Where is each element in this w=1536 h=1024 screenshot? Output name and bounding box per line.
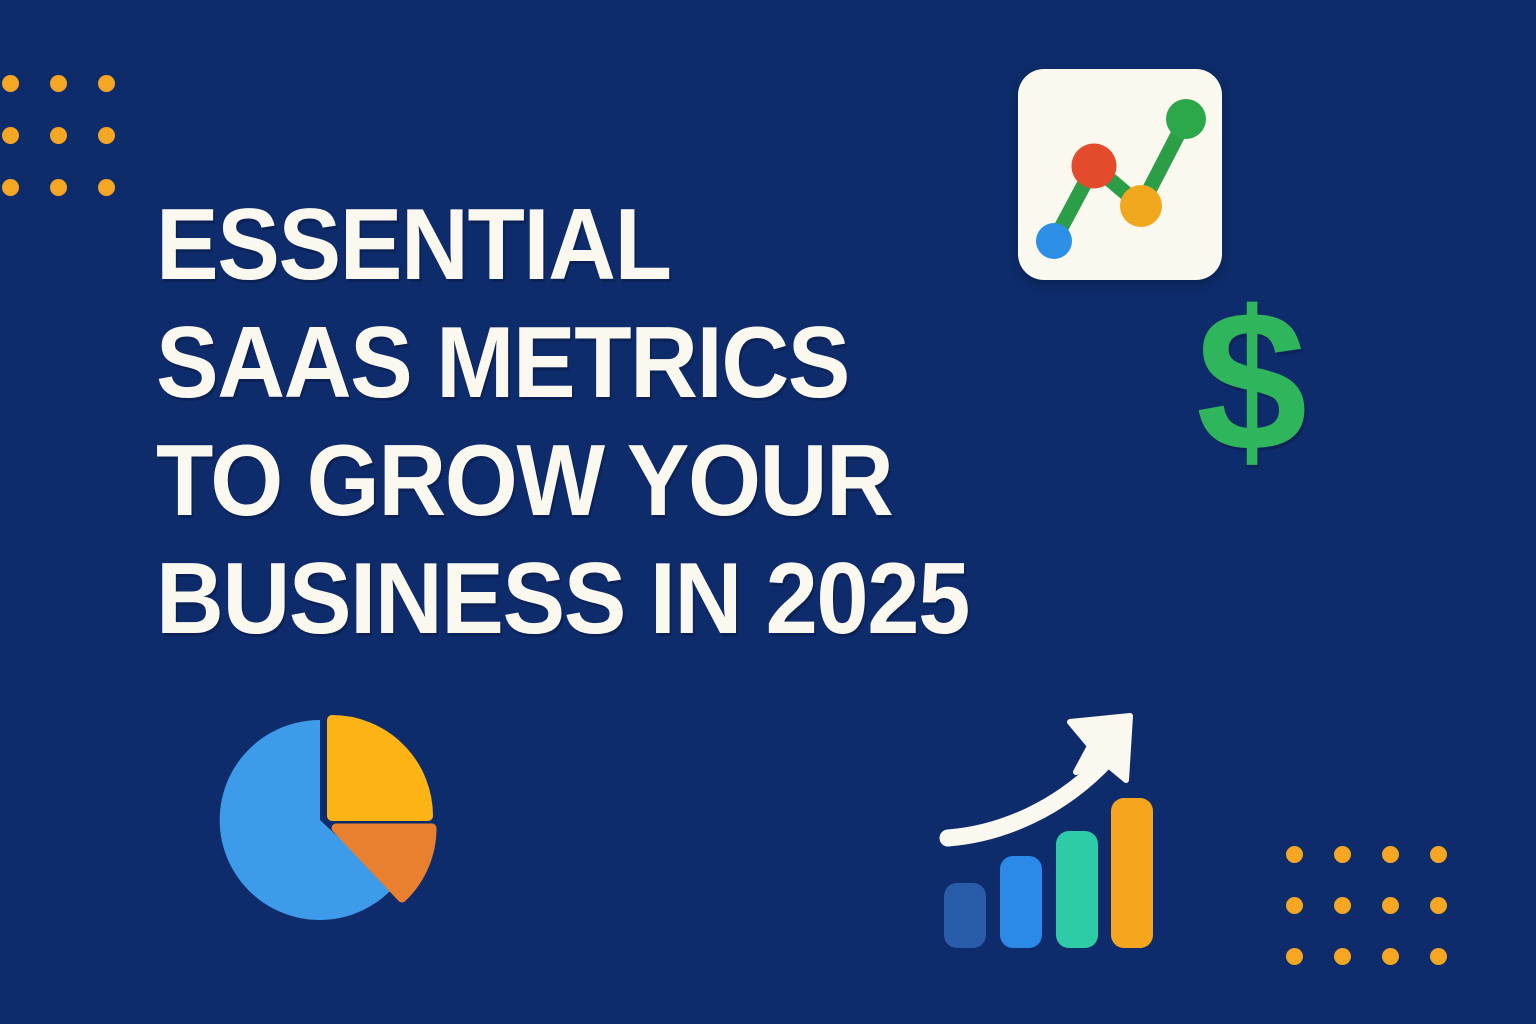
page-title: ESSENTIAL SAAS METRICS TO GROW YOUR BUSI… — [156, 186, 1156, 658]
decor-dot — [50, 127, 67, 144]
decor-dot — [1286, 846, 1303, 863]
bar-4 — [1111, 798, 1153, 948]
line-chart-point-green — [1166, 99, 1206, 139]
pie-chart-icon — [206, 698, 446, 938]
pie-slice-yellow — [332, 720, 428, 816]
bar-3 — [1056, 831, 1098, 948]
bar-2 — [1000, 856, 1042, 948]
line-chart-point-orange — [1120, 185, 1162, 227]
decor-dot — [2, 127, 19, 144]
headline-line-2: SAAS METRICS — [156, 304, 1086, 422]
headline-line-3: TO GROW YOUR — [156, 422, 1086, 540]
decor-dot — [98, 179, 115, 196]
dollar-sign-icon: $ — [1196, 292, 1296, 472]
bar-1 — [944, 883, 986, 948]
headline-line-4: BUSINESS IN 2025 — [156, 540, 1086, 658]
decor-dot — [98, 75, 115, 92]
decor-dot — [2, 75, 19, 92]
decor-dot — [50, 75, 67, 92]
decor-dot — [1382, 948, 1399, 965]
poster-canvas: ESSENTIAL SAAS METRICS TO GROW YOUR BUSI… — [0, 0, 1536, 1024]
line-chart-point-blue — [1036, 223, 1072, 259]
decor-dot — [1382, 897, 1399, 914]
decor-dot — [1334, 897, 1351, 914]
decor-dot — [50, 179, 67, 196]
line-chart-polyline — [1054, 119, 1186, 241]
line-chart-point-red — [1072, 144, 1117, 189]
decor-dot — [1334, 846, 1351, 863]
upward-trend-arrow-icon — [948, 716, 1130, 838]
decor-dot — [1430, 897, 1447, 914]
headline-line-1: ESSENTIAL — [156, 186, 1086, 304]
decor-dot — [1430, 948, 1447, 965]
decor-dot — [1382, 846, 1399, 863]
decor-dot — [1334, 948, 1351, 965]
decor-dot — [1286, 948, 1303, 965]
decorative-dot-grid-bottom-right — [1286, 846, 1478, 999]
bar-chart-icon — [930, 698, 1180, 948]
decorative-dot-grid-top-left — [2, 75, 146, 231]
decor-dot — [2, 179, 19, 196]
decor-dot — [1430, 846, 1447, 863]
decor-dot — [98, 127, 115, 144]
decor-dot — [1286, 897, 1303, 914]
line-chart-icon — [1018, 69, 1222, 280]
line-chart-icon-card — [1018, 69, 1222, 280]
